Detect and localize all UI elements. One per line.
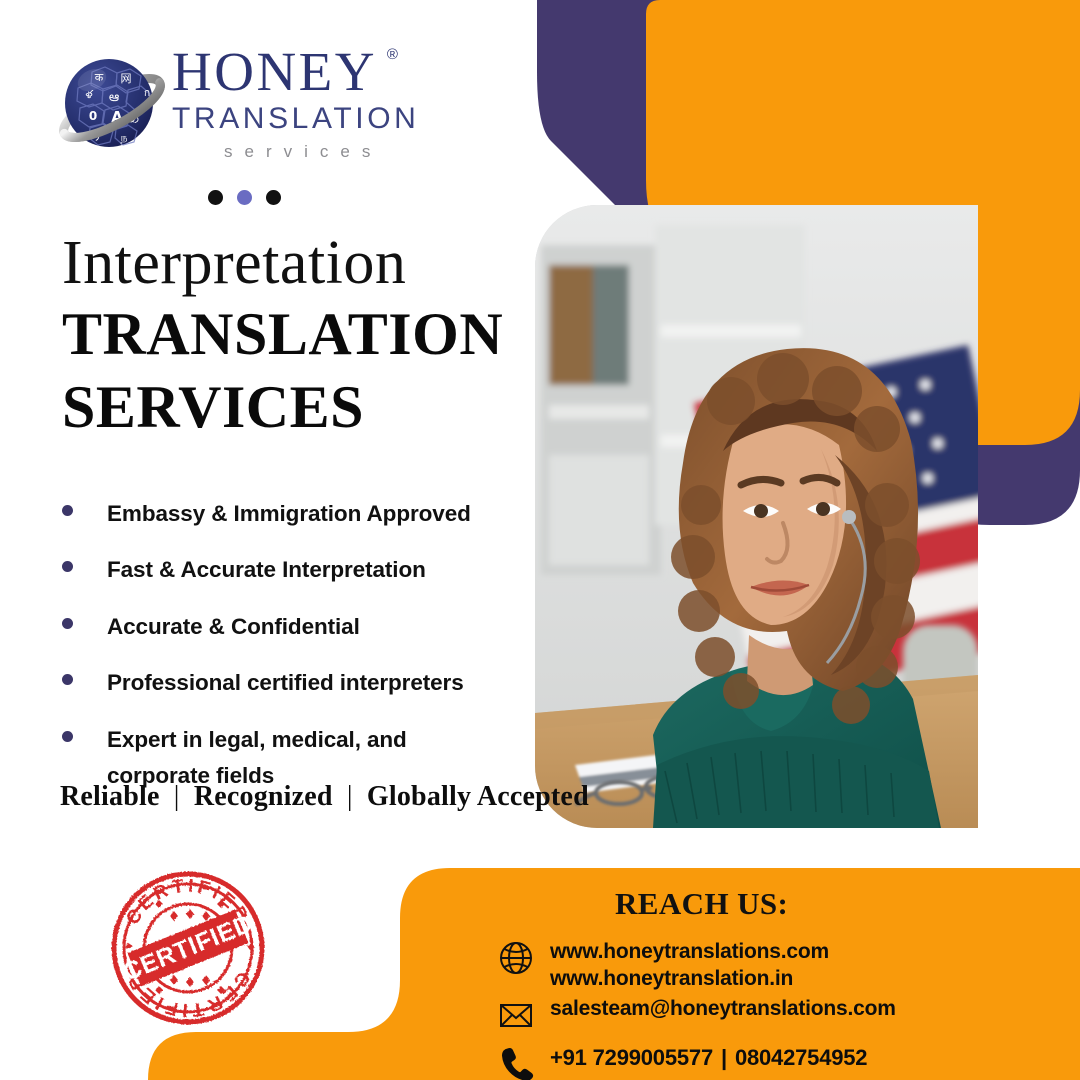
svg-text:ந: ந bbox=[120, 131, 127, 144]
phone-separator: | bbox=[713, 1045, 735, 1070]
envelope-icon bbox=[496, 995, 536, 1035]
logo-name-tertiary: services bbox=[224, 143, 472, 160]
feature-text: Professional certified interpreters bbox=[107, 665, 464, 701]
feature-text: Embassy & Immigration Approved bbox=[107, 496, 471, 532]
contact-email-row[interactable]: salesteam@honeytranslations.com bbox=[496, 995, 896, 1035]
website-2[interactable]: www.honeytranslation.in bbox=[550, 967, 793, 990]
feature-text: Accurate & Confidential bbox=[107, 609, 360, 645]
registered-trademark-icon: ® bbox=[387, 47, 398, 62]
phone-2[interactable]: 08042754952 bbox=[735, 1045, 867, 1070]
tagline-separator: | bbox=[167, 781, 187, 812]
certified-stamp-icon: CERTIFIED CERTIFIED bbox=[108, 868, 268, 1028]
bullet-icon bbox=[62, 505, 73, 516]
globe-logo-icon: क 网 ก ళ ఆ あ 0 A ア ந bbox=[56, 50, 168, 162]
headline-block: Interpretation TRANSLATION SERVICES bbox=[62, 232, 532, 442]
svg-text:网: 网 bbox=[121, 72, 132, 85]
feature-list: Embassy & Immigration Approved Fast & Ac… bbox=[56, 496, 536, 815]
bullet-icon bbox=[62, 561, 73, 572]
list-item: Accurate & Confidential bbox=[56, 609, 536, 645]
list-item: Professional certified interpreters bbox=[56, 665, 536, 701]
tagline-part-1: Reliable bbox=[60, 781, 160, 812]
list-item: Fast & Accurate Interpretation bbox=[56, 552, 536, 588]
feature-text: Fast & Accurate Interpretation bbox=[107, 552, 426, 588]
dot-3 bbox=[266, 190, 281, 205]
contact-email-text[interactable]: salesteam@honeytranslations.com bbox=[550, 995, 896, 1022]
logo-name-secondary: TRANSLATION bbox=[172, 104, 472, 134]
headline-bold-line-2: SERVICES bbox=[62, 374, 532, 441]
bullet-icon bbox=[62, 618, 73, 629]
contact-title: REACH US: bbox=[615, 886, 788, 922]
bullet-icon bbox=[62, 674, 73, 685]
decorative-dots bbox=[208, 190, 281, 205]
logo-name-primary: HONEY bbox=[172, 41, 377, 102]
poster-canvas: क 网 ก ళ ఆ あ 0 A ア ந bbox=[0, 0, 1080, 1080]
brand-logo[interactable]: क 网 ก ళ ఆ あ 0 A ア ந bbox=[56, 44, 416, 174]
globe-icon bbox=[496, 938, 536, 978]
svg-text:0: 0 bbox=[89, 109, 97, 123]
dot-2 bbox=[237, 190, 252, 205]
contact-website-row[interactable]: www.honeytranslations.com www.honeytrans… bbox=[496, 938, 829, 993]
headline-bold-line-1: TRANSLATION bbox=[62, 301, 532, 368]
list-item: Embassy & Immigration Approved bbox=[56, 496, 536, 532]
tagline-part-2: Recognized bbox=[194, 781, 333, 812]
headline-script: Interpretation bbox=[62, 232, 532, 295]
tagline-separator: | bbox=[340, 781, 360, 812]
bullet-icon bbox=[62, 731, 73, 742]
website-1[interactable]: www.honeytranslations.com bbox=[550, 940, 829, 963]
tagline: Reliable | Recognized | Globally Accepte… bbox=[60, 781, 589, 813]
phone-1[interactable]: +91 7299005577 bbox=[550, 1045, 713, 1070]
svg-text:ఆ: ఆ bbox=[109, 90, 119, 105]
hero-photo bbox=[535, 205, 978, 828]
logo-wordmark: HONEY ® TRANSLATION services bbox=[172, 44, 472, 160]
contact-phone-text[interactable]: +91 7299005577|08042754952 bbox=[550, 1044, 867, 1073]
contact-block: REACH US: www.honeytranslations.com www.… bbox=[420, 868, 1080, 1080]
tagline-part-3: Globally Accepted bbox=[367, 781, 589, 812]
contact-phone-row[interactable]: +91 7299005577|08042754952 bbox=[496, 1044, 867, 1080]
dot-1 bbox=[208, 190, 223, 205]
contact-website-text[interactable]: www.honeytranslations.com www.honeytrans… bbox=[550, 938, 829, 993]
phone-icon bbox=[496, 1044, 536, 1080]
